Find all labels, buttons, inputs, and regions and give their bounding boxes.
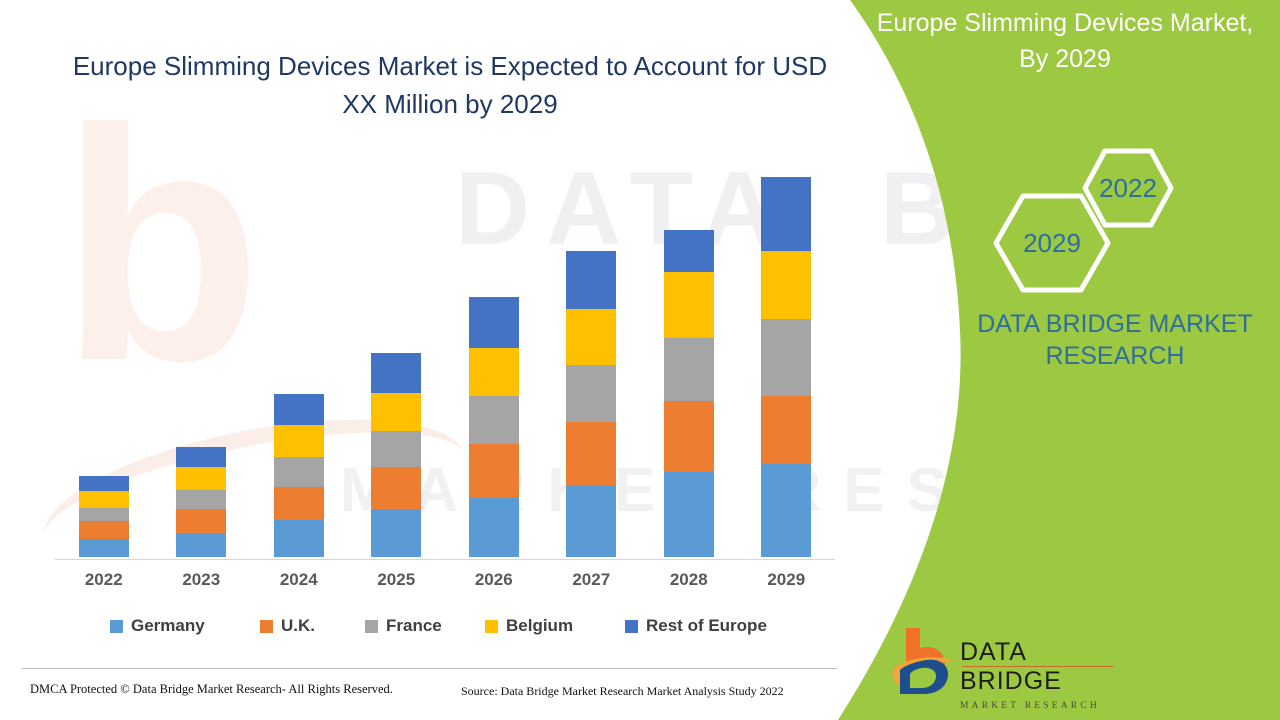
legend-item-belgium[interactable]: Belgium bbox=[485, 616, 573, 636]
dmca-notice: DMCA Protected © Data Bridge Market Rese… bbox=[30, 682, 393, 697]
bar-segment bbox=[274, 457, 324, 487]
bar-segment bbox=[469, 444, 519, 498]
bar-segment bbox=[469, 396, 519, 444]
bar-segment bbox=[566, 486, 616, 557]
bar-segment bbox=[274, 425, 324, 457]
legend-item-rest-of-europe[interactable]: Rest of Europe bbox=[625, 616, 767, 636]
x-tick-2022: 2022 bbox=[64, 570, 144, 590]
bar-segment bbox=[469, 297, 519, 348]
bar-segment bbox=[566, 251, 616, 309]
bar-segment bbox=[79, 491, 129, 508]
chart-legend: GermanyU.K.FranceBelgiumRest of Europe bbox=[55, 616, 835, 644]
legend-swatch-icon bbox=[625, 620, 638, 633]
legend-label: France bbox=[386, 616, 442, 636]
bar-segment bbox=[664, 230, 714, 273]
data-bridge-logo: DATA BRIDGE MARKET RESEARCH bbox=[888, 622, 1118, 700]
bar-segment bbox=[761, 464, 811, 557]
bar-segment bbox=[566, 309, 616, 365]
legend-swatch-icon bbox=[485, 620, 498, 633]
headline: Europe Slimming Devices Market is Expect… bbox=[70, 47, 830, 123]
bar-segment bbox=[176, 467, 226, 489]
bar-segment bbox=[79, 521, 129, 538]
bar-segment bbox=[761, 396, 811, 464]
x-tick-2029: 2029 bbox=[746, 570, 826, 590]
x-tick-2024: 2024 bbox=[259, 570, 339, 590]
bar-segment bbox=[566, 365, 616, 422]
legend-label: Germany bbox=[131, 616, 205, 636]
bar-segment bbox=[371, 393, 421, 431]
hexagon-badge-2029-label: 2029 bbox=[993, 193, 1111, 293]
x-tick-2026: 2026 bbox=[454, 570, 534, 590]
legend-swatch-icon bbox=[260, 620, 273, 633]
logo-underline bbox=[962, 666, 1114, 667]
legend-swatch-icon bbox=[365, 620, 378, 633]
bar-segment bbox=[176, 447, 226, 467]
bar-segment bbox=[664, 272, 714, 337]
legend-label: Belgium bbox=[506, 616, 573, 636]
bar-segment bbox=[371, 353, 421, 393]
legend-label: U.K. bbox=[281, 616, 315, 636]
stacked-bar-chart bbox=[55, 150, 835, 560]
bar-segment bbox=[274, 487, 324, 521]
bar-segment bbox=[79, 476, 129, 490]
legend-swatch-icon bbox=[110, 620, 123, 633]
logo-subtitle: MARKET RESEARCH bbox=[960, 701, 1118, 711]
bar-segment bbox=[79, 508, 129, 521]
bar-segment bbox=[274, 520, 324, 557]
bar-column-2029 bbox=[761, 177, 811, 557]
bar-segment bbox=[761, 319, 811, 396]
bar-column-2028 bbox=[664, 230, 714, 557]
bar-segment bbox=[664, 338, 714, 401]
bar-segment bbox=[274, 394, 324, 426]
x-tick-2027: 2027 bbox=[551, 570, 631, 590]
logo-title: DATA BRIDGE bbox=[960, 638, 1118, 696]
bar-column-2026 bbox=[469, 297, 519, 557]
legend-item-u-k[interactable]: U.K. bbox=[260, 616, 315, 636]
bar-segment bbox=[176, 509, 226, 532]
bar-segment bbox=[761, 177, 811, 251]
bar-segment bbox=[566, 422, 616, 485]
brand-name: DATA BRIDGE MARKET RESEARCH bbox=[955, 308, 1275, 372]
bar-column-2024 bbox=[274, 394, 324, 557]
bar-segment bbox=[371, 509, 421, 557]
bar-segment bbox=[371, 431, 421, 468]
x-tick-2023: 2023 bbox=[161, 570, 241, 590]
footer-divider bbox=[22, 668, 837, 669]
infographic-canvas: b DATA BRIDGE MARKET RESEARCH Europe Sli… bbox=[0, 0, 1280, 720]
source-note: Source: Data Bridge Market Research Mark… bbox=[461, 684, 784, 699]
bar-segment bbox=[176, 533, 226, 557]
x-axis-tick-labels: 20222023202420252026202720282029 bbox=[55, 570, 835, 596]
legend-item-france[interactable]: France bbox=[365, 616, 442, 636]
bar-segment bbox=[79, 539, 129, 557]
x-tick-2028: 2028 bbox=[649, 570, 729, 590]
bar-column-2025 bbox=[371, 353, 421, 557]
bar-column-2027 bbox=[566, 251, 616, 557]
hexagon-badge-2029: 2029 bbox=[993, 193, 1111, 293]
bar-segment bbox=[469, 348, 519, 396]
x-axis-line bbox=[55, 559, 835, 560]
bar-segment bbox=[664, 401, 714, 472]
legend-label: Rest of Europe bbox=[646, 616, 767, 636]
bar-segment bbox=[469, 498, 519, 557]
logo-wordmark: DATA BRIDGE MARKET RESEARCH bbox=[960, 638, 1118, 711]
bar-segment bbox=[761, 251, 811, 319]
bar-column-2022 bbox=[79, 476, 129, 557]
chart-plot-area bbox=[55, 150, 835, 558]
panel-title: Europe Slimming Devices Market, By 2029 bbox=[860, 5, 1270, 77]
x-tick-2025: 2025 bbox=[356, 570, 436, 590]
bar-column-2023 bbox=[176, 447, 226, 557]
bar-segment bbox=[664, 472, 714, 557]
logo-monogram-icon bbox=[888, 622, 958, 694]
bar-segment bbox=[371, 467, 421, 509]
legend-item-germany[interactable]: Germany bbox=[110, 616, 205, 636]
bar-segment bbox=[176, 490, 226, 509]
